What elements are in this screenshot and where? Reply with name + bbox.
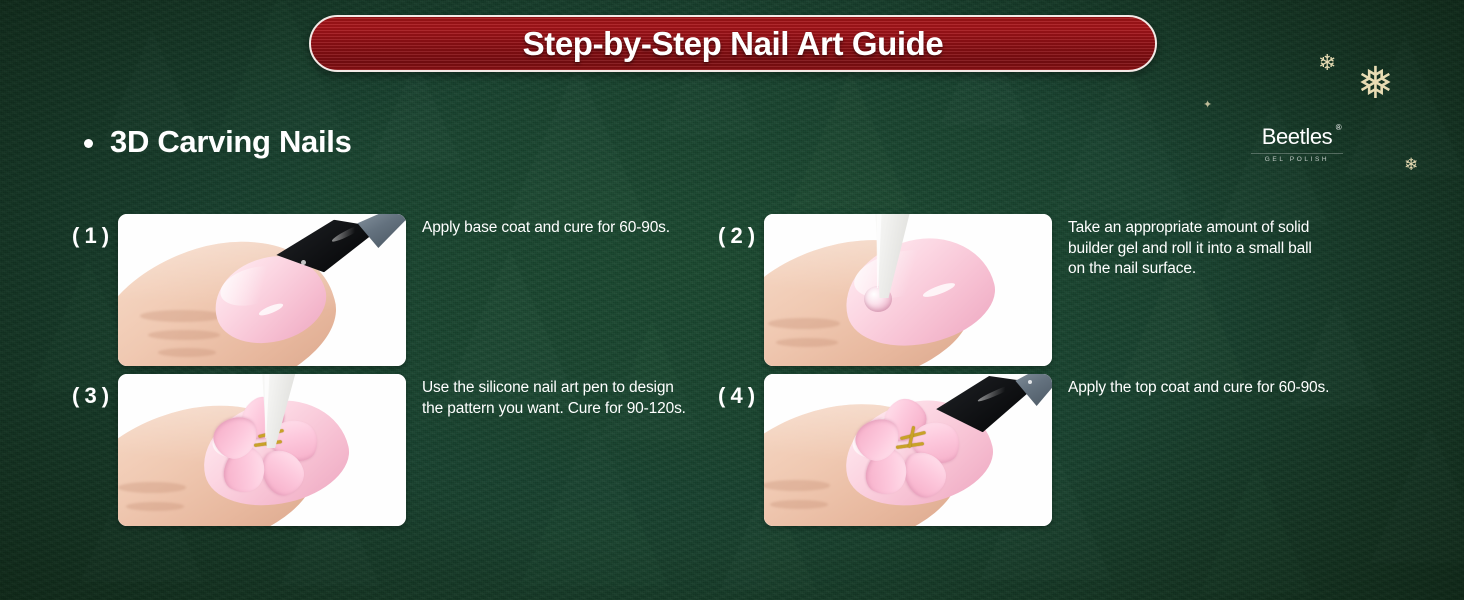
step-item-1: ( 1 ) — [72, 214, 686, 366]
step-number-2: ( 2 ) — [718, 214, 764, 249]
step-photo-3 — [118, 374, 406, 526]
step-number-4: ( 4 ) — [718, 374, 764, 409]
brand-subtitle: GEL POLISH — [1251, 153, 1343, 163]
brand-name: Beetles ® — [1262, 126, 1333, 148]
step-photo-2 — [764, 214, 1052, 366]
step-number-1: ( 1 ) — [72, 214, 118, 249]
registered-trademark-icon: ® — [1336, 124, 1342, 132]
snowflake-small-top-icon: ❄ — [1318, 52, 1336, 74]
step-number-3: ( 3 ) — [72, 374, 118, 409]
step-item-3: ( 3 ) — [72, 374, 686, 526]
title-banner: Step-by-Step Nail Art Guide — [309, 15, 1157, 72]
page-title: Step-by-Step Nail Art Guide — [523, 25, 944, 63]
step-caption-2: Take an appropriate amount of solid buil… — [1052, 214, 1332, 280]
step-caption-4: Apply the top coat and cure for 60-90s. — [1052, 374, 1332, 399]
step-caption-1: Apply base coat and cure for 60-90s. — [406, 214, 686, 239]
step-caption-3: Use the silicone nail art pen to design … — [406, 374, 686, 419]
snowflake-large-icon: ❅ — [1357, 62, 1394, 106]
snowflake-tiny-left-icon: ✦ — [1203, 100, 1212, 111]
step-photo-1 — [118, 214, 406, 366]
step-item-2: ( 2 ) Take an a — [718, 214, 1332, 366]
snowflake-small-bottom-icon: ❄ — [1404, 156, 1418, 173]
section-heading: 3D Carving Nails — [84, 124, 352, 160]
brand-name-text: Beetles — [1262, 124, 1333, 149]
step-photo-4 — [764, 374, 1052, 526]
section-heading-label: 3D Carving Nails — [110, 124, 352, 160]
step-item-4: ( 4 ) — [718, 374, 1332, 526]
nail-art-guide-infographic: ❄ ❅ ✦ ❄ Step-by-Step Nail Art Guide 3D C… — [0, 0, 1464, 600]
bullet-dot-icon — [84, 139, 93, 148]
brand-logo: Beetles ® GEL POLISH — [1251, 126, 1343, 163]
